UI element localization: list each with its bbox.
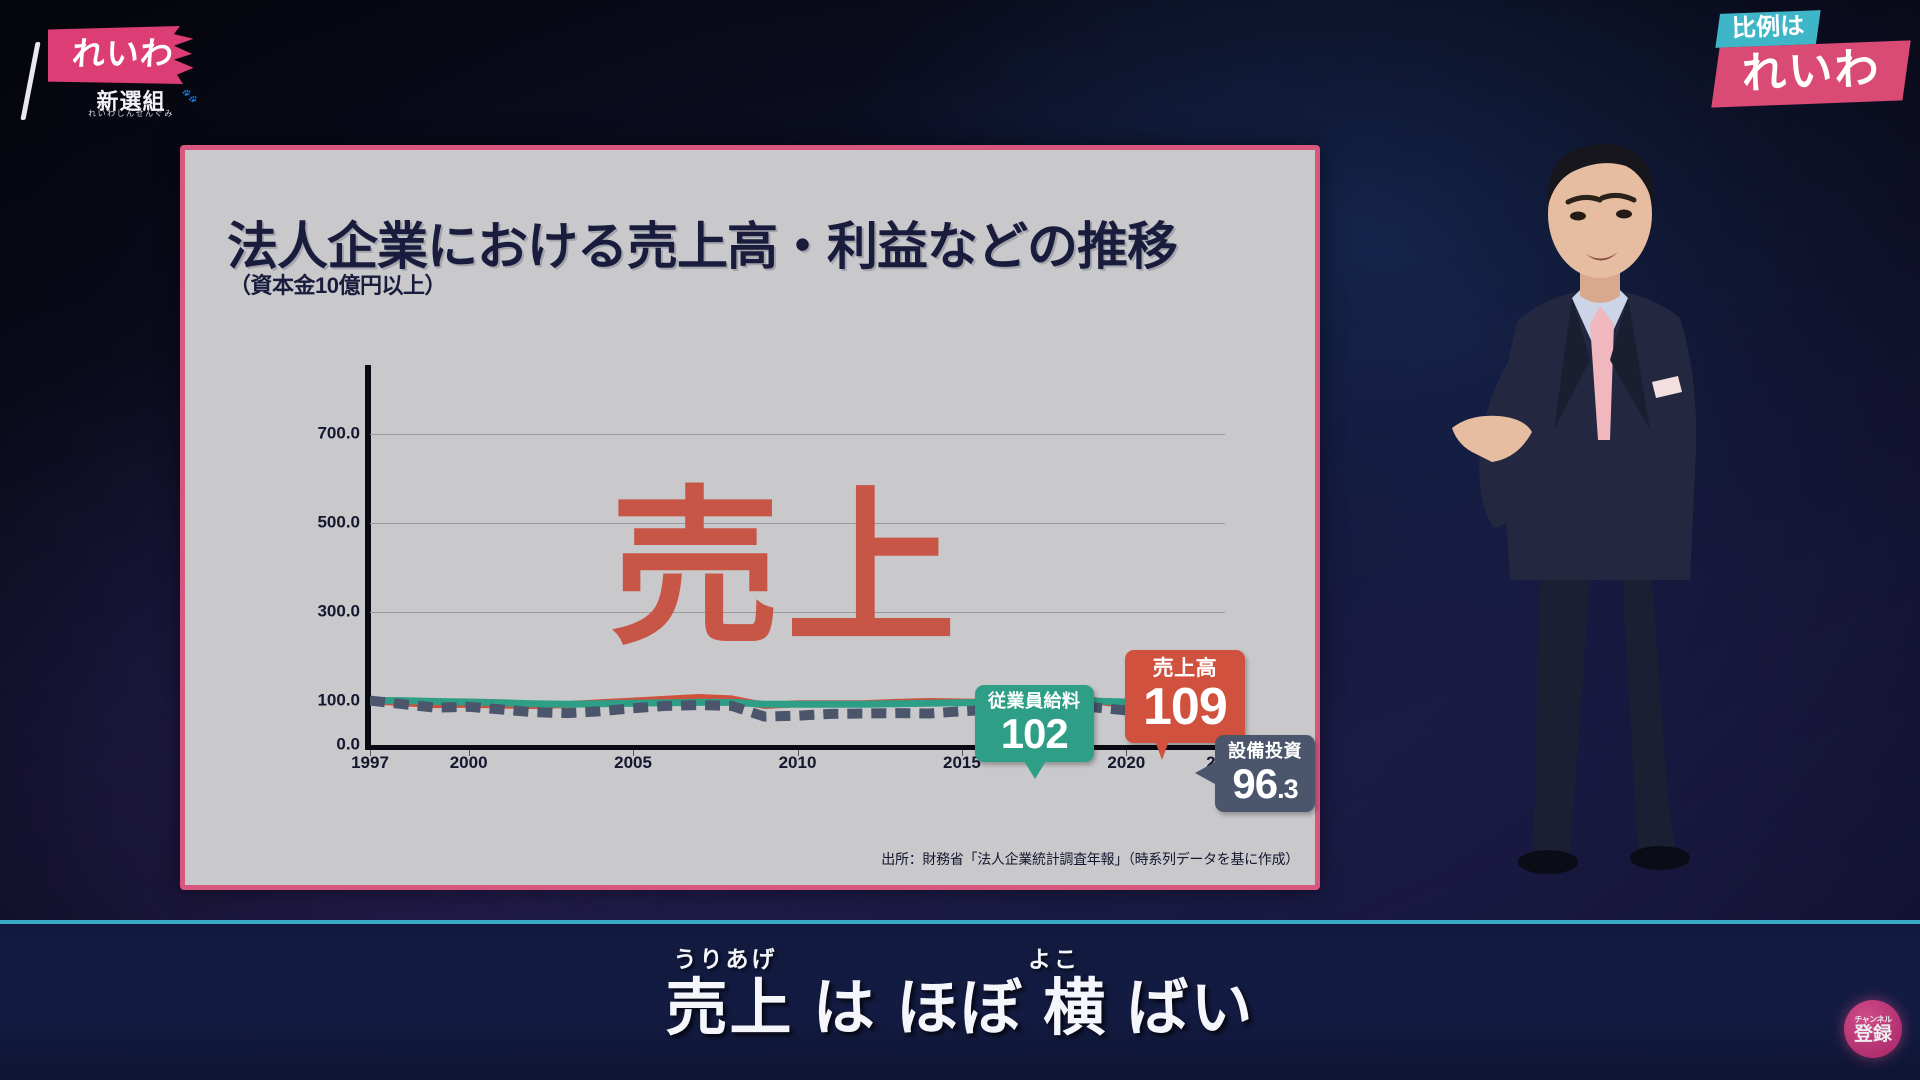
callout-value: 109 xyxy=(1143,682,1227,733)
x-axis-tick-mark xyxy=(469,750,470,756)
caption-segment-1: 売上 xyxy=(666,974,794,1043)
badge-top-text: 比例は xyxy=(1731,15,1804,42)
plot-area: 0.0100.0300.0500.0700.0 売上 xyxy=(370,390,1225,745)
proportional-vote-badge: 比例は れいわ xyxy=(1712,12,1912,112)
logo-pink-banner: れいわ xyxy=(48,26,198,84)
callout-employee-salary: 従業員給料 102 xyxy=(975,685,1094,762)
badge-bottom-text: れいわ xyxy=(1741,48,1882,97)
badge-teal-banner: 比例は xyxy=(1715,10,1820,48)
caption-segment-2: は ほぼ xyxy=(813,974,1024,1043)
furigana-uriage: うりあげ xyxy=(674,940,778,974)
x-axis-tick-label: 2010 xyxy=(779,753,817,773)
x-axis-tick-mark xyxy=(1126,750,1127,756)
x-axis-tick-mark xyxy=(633,750,634,756)
callout-value: 102 xyxy=(988,713,1081,754)
series-lines xyxy=(370,390,1225,745)
slide-subtitle: （資本金10億円以上） xyxy=(229,268,446,300)
callout-value: 96.3 xyxy=(1228,763,1302,804)
subscribe-label-top: チャンネル xyxy=(1854,1014,1891,1025)
logo-slash-decoration xyxy=(20,42,40,120)
callout-tail xyxy=(1024,761,1046,779)
party-logo: れいわ 新選組 🐾 れいわしんせんぐみ xyxy=(22,8,212,118)
x-axis-tick-mark xyxy=(962,750,963,756)
badge-pink-banner: れいわ xyxy=(1711,40,1910,107)
x-axis-tick-label: 2020 xyxy=(1107,753,1145,773)
chart: 0.0100.0300.0500.0700.0 売上 1997200020052… xyxy=(245,365,1265,815)
y-axis-tick-label: 300.0 xyxy=(317,601,360,621)
callout-tail xyxy=(1151,730,1173,760)
x-axis-tick-mark xyxy=(798,750,799,756)
callout-capital-investment: 設備投資 96.3 xyxy=(1215,735,1315,812)
paw-print-icon: 🐾 xyxy=(182,88,198,104)
y-axis-tick-label: 500.0 xyxy=(317,513,360,533)
callout-sales: 売上高 109 xyxy=(1125,650,1245,743)
y-axis-tick-label: 0.0 xyxy=(336,735,360,755)
callout-tail xyxy=(1195,762,1215,784)
presentation-slide: 法人企業における売上高・利益などの推移 （資本金10億円以上） 0.0100.0… xyxy=(180,145,1320,890)
x-axis xyxy=(365,745,1235,750)
subscribe-button[interactable]: チャンネル 登録 xyxy=(1844,1000,1902,1058)
x-axis-tick-mark xyxy=(370,750,371,756)
y-axis-tick-label: 100.0 xyxy=(317,690,360,710)
x-axis-tick-label: 2000 xyxy=(450,753,488,773)
logo-main-text: れいわ xyxy=(71,37,176,73)
caption-segment-3: 横 xyxy=(1043,974,1107,1043)
x-axis-tick-label: 2005 xyxy=(614,753,652,773)
caption-text: うりあげ 売上 は ほぼ よこ 横 ばい xyxy=(666,957,1255,1047)
x-axis-tick-label: 1997 xyxy=(351,753,389,773)
caption-bar: うりあげ 売上 は ほぼ よこ 横 ばい xyxy=(0,920,1920,1080)
furigana-yoko: よこ xyxy=(1028,940,1080,974)
speaker-video-figure xyxy=(1440,110,1760,910)
chart-source-note: 出所：財務省「法人企業統計調査年報」（時系列データを基に作成） xyxy=(881,849,1299,869)
speaker-illustration xyxy=(1440,110,1760,910)
subscribe-label-bottom: 登録 xyxy=(1854,1025,1892,1045)
y-axis-tick-label: 700.0 xyxy=(317,424,360,444)
logo-romaji-text: れいわしんせんぐみ xyxy=(66,108,196,119)
caption-segment-4: ばい xyxy=(1126,974,1254,1043)
